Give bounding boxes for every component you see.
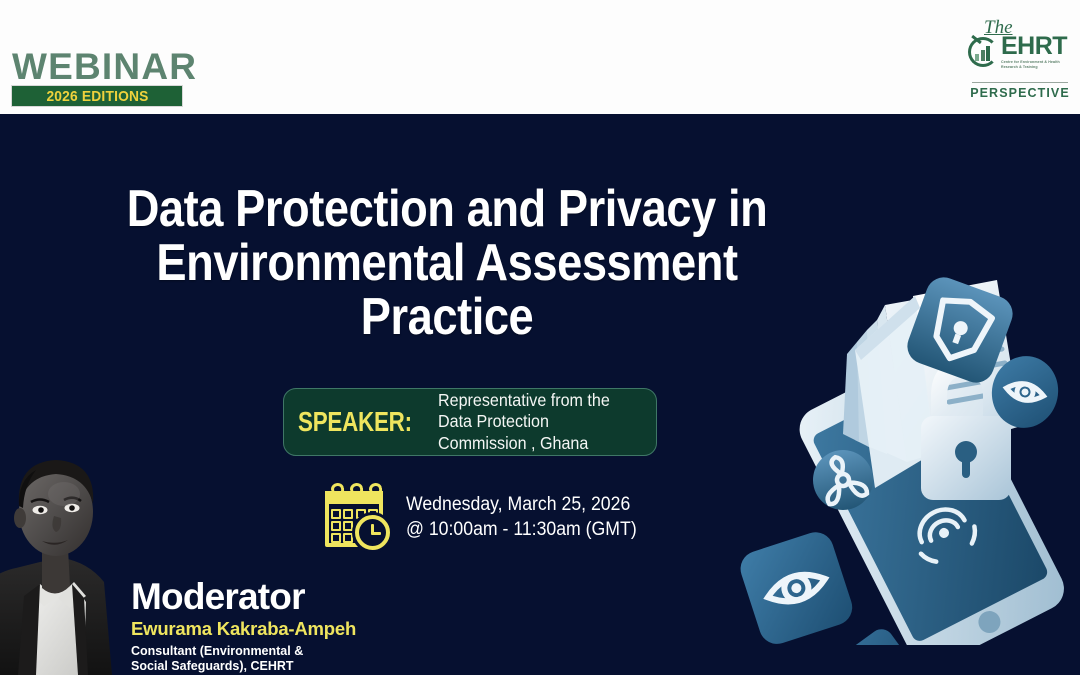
eye-privacy-icon — [736, 528, 857, 645]
logo-perspective-label: PERSPECTIVE — [968, 86, 1072, 100]
circle-bar-chart-icon — [968, 35, 1000, 67]
speaker-panel: SPEAKER: Representative from the Data Pr… — [283, 388, 657, 456]
schedule-row: Wednesday, March 25, 2026 @ 10:00am - 11… — [322, 481, 652, 553]
moderator-role: Consultant (Environmental & Social Safeg… — [131, 644, 331, 674]
webinar-heading: WEBINAR — [12, 48, 197, 85]
speaker-label: SPEAKER: — [298, 406, 412, 438]
schedule-text: Wednesday, March 25, 2026 @ 10:00am - 11… — [406, 492, 637, 542]
page-title: Data Protection and Privacy in Environme… — [103, 182, 790, 344]
logo-divider — [972, 82, 1068, 83]
schedule-date: Wednesday, March 25, 2026 — [406, 492, 637, 517]
logo-text-group: EHRT Centre for Environment & Health Res… — [1001, 35, 1067, 69]
editions-badge-label: 2026 EDITIONS — [46, 89, 148, 104]
cehrt-logo: The EHRT Centre for Environment & Health… — [968, 18, 1072, 110]
speaker-name: Representative from the Data Protection … — [438, 390, 625, 454]
webinar-poster: WEBINAR 2026 EDITIONS The EHRT Centre fo… — [0, 0, 1080, 675]
data-privacy-illustration: DATA — [735, 200, 1080, 645]
schedule-time: @ 10:00am - 11:30am (GMT) — [406, 517, 637, 542]
logo-acronym: EHRT — [1001, 35, 1067, 59]
moderator-title: Moderator — [131, 578, 461, 615]
calendar-clock-icon — [322, 483, 390, 551]
header-band: WEBINAR 2026 EDITIONS The EHRT Centre fo… — [0, 0, 1080, 114]
logo-tagline: Centre for Environment & Health Research… — [1001, 60, 1063, 70]
logo-main-row: EHRT Centre for Environment & Health Res… — [968, 35, 1072, 73]
moderator-block: Moderator Ewurama Kakraba-Ampeh Consulta… — [131, 578, 461, 674]
moderator-name: Ewurama Kakraba-Ampeh — [131, 618, 461, 640]
editions-badge: 2026 EDITIONS — [11, 85, 183, 107]
moderator-portrait — [0, 446, 120, 675]
